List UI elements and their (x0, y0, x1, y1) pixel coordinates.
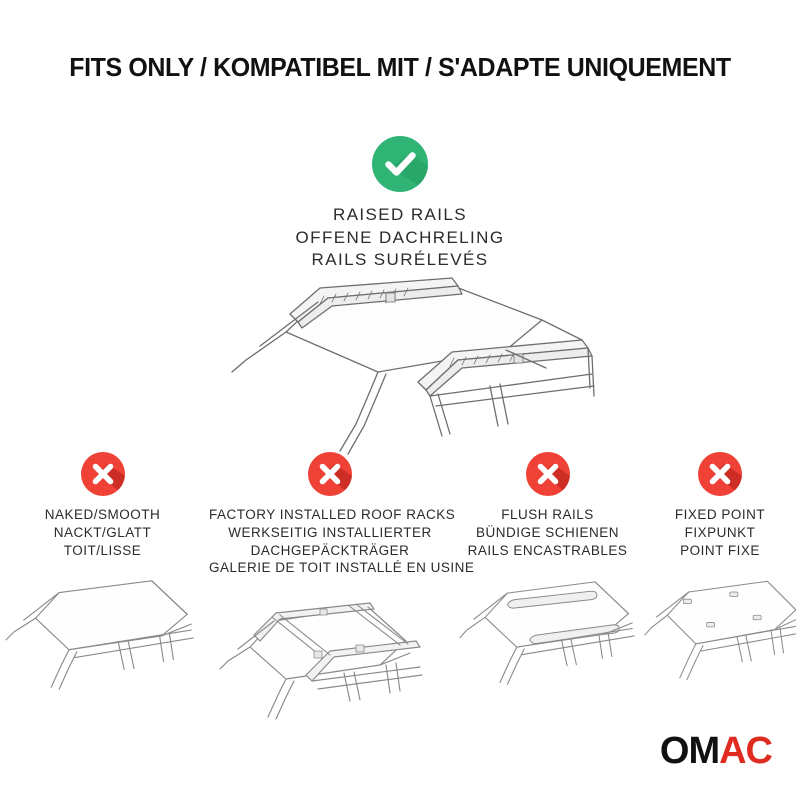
incompatible-options: NAKED/SMOOTH NACKT/GLATT TOIT/LISSE (0, 452, 800, 720)
option-labels: FLUSH RAILS BÜNDIGE SCHIENEN RAILS ENCAS… (459, 506, 636, 559)
compatible-labels: RAISED RAILS OFFENE DACHRELING RAILS SUR… (0, 204, 800, 272)
option-label-fr: GALERIE DE TOIT INSTALLÉ EN USINE (209, 559, 451, 577)
option-labels: FACTORY INSTALLED ROOF RACKS WERKSEITIG … (209, 506, 451, 577)
car-roof-flush-rails-illustration (459, 567, 636, 702)
brand-logo-part-black: OM (660, 732, 719, 770)
check-mark-icon (372, 136, 428, 192)
car-roof-factory-racks-illustration (209, 585, 451, 720)
x-circle-icon (308, 452, 352, 496)
brand-logo-part-red: AC (719, 732, 772, 770)
x-circle-icon (698, 452, 742, 496)
page-title: FITS ONLY / KOMPATIBEL MIT / S'ADAPTE UN… (16, 52, 784, 83)
option-naked-smooth: NAKED/SMOOTH NACKT/GLATT TOIT/LISSE (0, 452, 205, 702)
option-labels: FIXED POINT FIXPUNKT POINT FIXE (644, 506, 796, 559)
x-mark-icon (81, 452, 125, 496)
x-circle-icon (81, 452, 125, 496)
x-mark-icon (308, 452, 352, 496)
header: FITS ONLY / KOMPATIBEL MIT / S'ADAPTE UN… (0, 52, 800, 83)
car-roof-naked-smooth-illustration (4, 567, 201, 702)
option-label-de: NACKT/GLATT (4, 524, 201, 542)
option-label-fr: POINT FIXE (644, 542, 796, 560)
option-label-en: NAKED/SMOOTH (4, 506, 201, 524)
option-labels: NAKED/SMOOTH NACKT/GLATT TOIT/LISSE (4, 506, 201, 559)
option-label-en: FIXED POINT (644, 506, 796, 524)
compatible-section: RAISED RAILS OFFENE DACHRELING RAILS SUR… (0, 136, 800, 272)
compatible-label-fr: RAILS SURÉLEVÉS (0, 249, 800, 272)
car-roof-fixed-point-illustration (644, 567, 796, 702)
option-label-en: FLUSH RAILS (459, 506, 636, 524)
x-circle-icon (526, 452, 570, 496)
option-factory-installed-roof-racks: FACTORY INSTALLED ROOF RACKS WERKSEITIG … (205, 452, 455, 720)
option-flush-rails: FLUSH RAILS BÜNDIGE SCHIENEN RAILS ENCAS… (455, 452, 640, 702)
check-circle-icon (372, 136, 428, 192)
brand-logo-omac: OMAC (660, 732, 772, 770)
option-fixed-point: FIXED POINT FIXPUNKT POINT FIXE (640, 452, 800, 702)
compatible-label-de: OFFENE DACHRELING (0, 227, 800, 250)
x-mark-icon (698, 452, 742, 496)
option-label-de-1: WERKSEITIG INSTALLIERTER (209, 524, 451, 542)
option-label-de-2: DACHGEPÄCKTRÄGER (209, 542, 451, 560)
car-roof-raised-rails-illustration (190, 276, 630, 456)
x-mark-icon (526, 452, 570, 496)
option-label-fr: RAILS ENCASTRABLES (459, 542, 636, 560)
option-label-fr: TOIT/LISSE (4, 542, 201, 560)
option-label-en: FACTORY INSTALLED ROOF RACKS (209, 506, 451, 524)
option-label-de: BÜNDIGE SCHIENEN (459, 524, 636, 542)
option-label-de: FIXPUNKT (644, 524, 796, 542)
compatible-label-en: RAISED RAILS (0, 204, 800, 227)
